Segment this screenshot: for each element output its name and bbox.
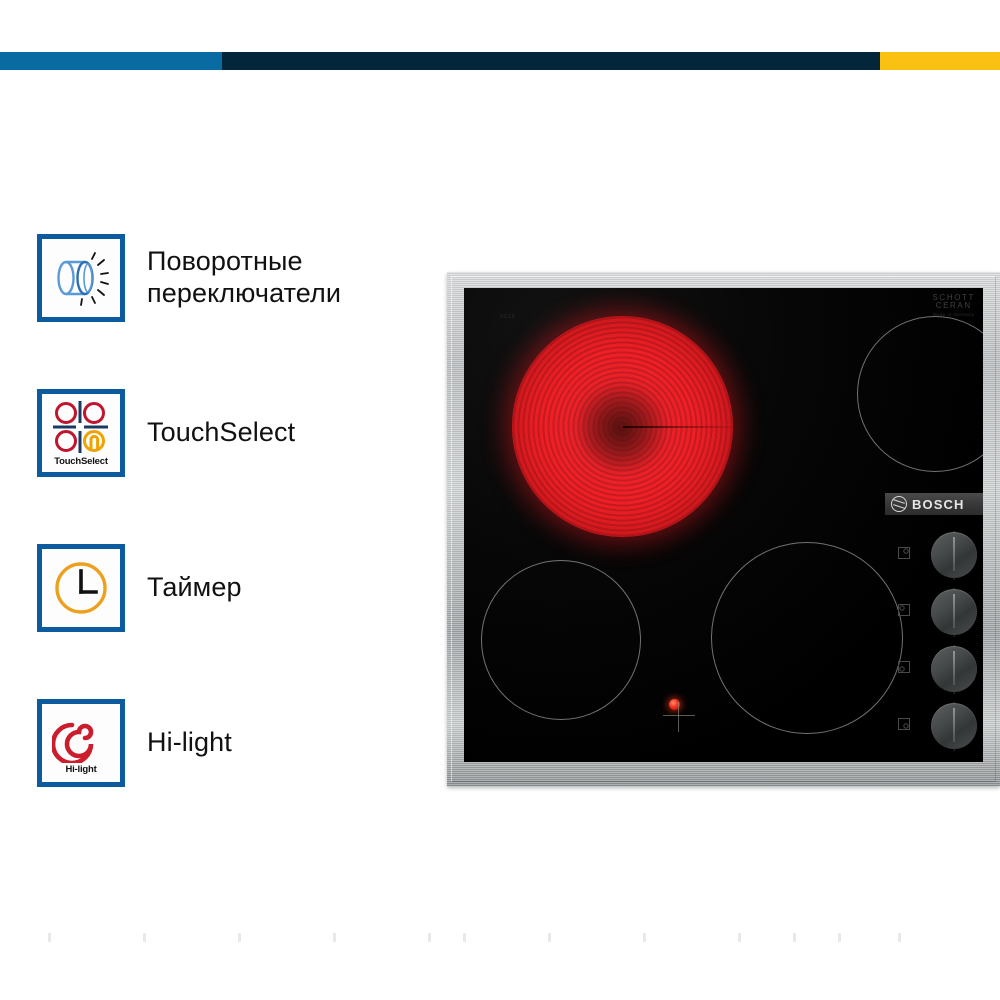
feature-icon-box-timer <box>37 544 125 632</box>
timer-clock-icon <box>50 557 112 619</box>
feature-icon-box-touchselect: TouchSelect <box>37 389 125 477</box>
zone-indicator-icon-1 <box>897 546 911 560</box>
feature-label-rotary-knobs: Поворотные переключатели <box>147 246 341 310</box>
zone-indicator-icon-3 <box>897 660 911 674</box>
bottom-tick-3 <box>238 933 241 942</box>
schott-ceran-logo: SCHOTT CERAN Made in Germany <box>933 294 976 318</box>
schott-ceran-line2: CERAN <box>936 301 972 310</box>
bosch-logo-badge: BOSCH <box>885 493 983 515</box>
knob-row-3: 098 765 432 1 <box>881 640 981 697</box>
brand-bar-segment-navy <box>222 52 880 70</box>
bottom-tick-1 <box>48 933 51 942</box>
feature-label-timer: Таймер <box>147 572 242 604</box>
feature-label-hi-light: Hi-light <box>147 727 232 759</box>
cooking-zone-rear-right[interactable] <box>857 316 983 472</box>
residual-heat-cross-vertical <box>678 702 679 732</box>
cooking-zone-hot-spoke <box>623 426 734 428</box>
touchselect-icon-caption: TouchSelect <box>54 456 108 467</box>
control-knob-2[interactable] <box>931 589 977 635</box>
bottom-tick-5 <box>428 933 431 942</box>
bosch-wordmark: BOSCH <box>912 497 964 512</box>
bosch-logo-mark-icon <box>891 496 907 512</box>
bottom-tick-12 <box>898 933 901 942</box>
feature-item-rotary-knobs: Поворотные переключатели <box>37 200 437 355</box>
knob-row-2: 098 765 432 1 <box>881 583 981 640</box>
bottom-tick-10 <box>793 933 796 942</box>
bottom-tick-11 <box>838 933 841 942</box>
brand-bar-segment-yellow <box>880 52 1000 70</box>
feature-item-hi-light: Hi-light Hi-light <box>37 665 437 820</box>
feature-list: Поворотные переключатели TouchSelect Tou… <box>37 200 437 820</box>
bottom-tick-9 <box>738 933 741 942</box>
control-knob-3[interactable] <box>931 646 977 692</box>
hi-light-icon-caption: Hi-light <box>65 764 96 775</box>
brand-bar-segment-blue <box>0 52 222 70</box>
cooktop-product-image: HEZ9 SCHOTT CERAN Made in Germany BOSCH <box>447 272 1000 786</box>
touchselect-icon <box>50 399 112 455</box>
control-knob-column: 098 765 432 1 098 765 43 <box>881 526 981 756</box>
cooking-zone-rear-left-hot[interactable] <box>512 316 733 537</box>
cooktop-glass-surface: HEZ9 SCHOTT CERAN Made in Germany BOSCH <box>464 288 983 762</box>
bottom-tick-8 <box>643 933 646 942</box>
bottom-tick-7 <box>548 933 551 942</box>
feature-item-timer: Таймер <box>37 510 437 665</box>
rotary-knob-icon <box>48 247 114 309</box>
bottom-tick-row <box>0 930 1000 946</box>
feature-item-touchselect: TouchSelect TouchSelect <box>37 355 437 510</box>
zone-indicator-icon-2 <box>897 603 911 617</box>
bottom-tick-2 <box>143 933 146 942</box>
feature-label-touchselect: TouchSelect <box>147 417 295 449</box>
glass-corner-mark: HEZ9 <box>500 314 515 320</box>
residual-heat-cross-horizontal <box>663 715 695 716</box>
brand-color-bar <box>0 52 1000 70</box>
feature-icon-box-rotary-knobs <box>37 234 125 322</box>
bottom-tick-4 <box>333 933 336 942</box>
feature-icon-box-hi-light: Hi-light <box>37 699 125 787</box>
bottom-tick-6 <box>463 933 466 942</box>
knob-row-4: 098 765 432 1 <box>881 697 981 754</box>
knob-row-1: 098 765 432 1 <box>881 526 981 583</box>
residual-heat-indicator <box>659 694 699 734</box>
control-knob-4[interactable] <box>931 703 977 749</box>
hi-light-spiral-icon <box>52 711 110 763</box>
cooking-zone-front-right[interactable] <box>711 542 903 734</box>
cooking-zone-front-left[interactable] <box>481 560 641 720</box>
control-knob-1[interactable] <box>931 532 977 578</box>
zone-indicator-icon-4 <box>897 717 911 731</box>
